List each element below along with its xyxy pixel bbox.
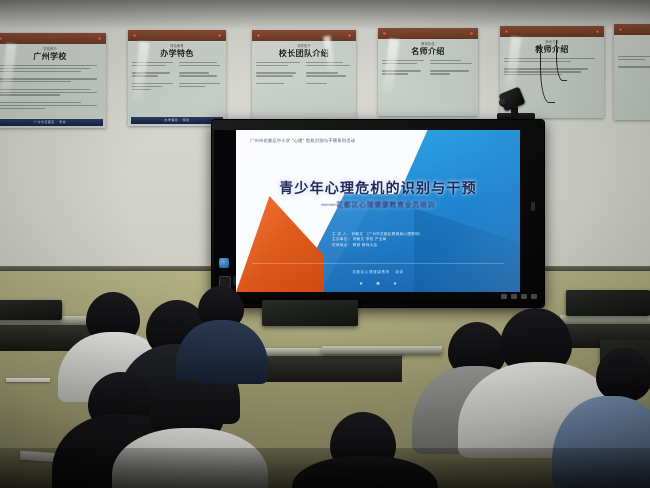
settings-icon[interactable]: ● xyxy=(392,281,398,287)
presenter-line-3: 时间地点： 教育 教师大会 xyxy=(332,243,423,248)
monitor-center xyxy=(262,300,358,326)
ceiling-cable xyxy=(556,40,567,81)
interactive-display[interactable]: SMART BOARD 广州市花都区中小学 "心理" 危机识别与干预系列活动 青… xyxy=(212,120,544,307)
board-header-bar xyxy=(614,24,650,35)
pin-icon xyxy=(348,34,351,37)
bulletin-board-guangzhou-school: 学校简介 广州学校 广州市花都区 · 学校 xyxy=(0,33,106,128)
board-header-bar xyxy=(378,28,478,39)
presentation-slide[interactable]: 广州市花都区中小学 "心理" 危机识别与干预系列活动 青少年心理危机的识别与干预… xyxy=(236,130,520,292)
slide-shape-orange xyxy=(236,196,324,292)
board-title: 校长团队介绍 xyxy=(252,48,356,59)
board-text-body xyxy=(0,65,102,117)
board-title: 广州学校 xyxy=(0,51,106,62)
slide-progress-bar[interactable] xyxy=(252,263,504,264)
pin-icon xyxy=(257,34,260,37)
photo-scene: 学校简介 广州学校 广州市花都区 · 学校 特色教育 办学特色 xyxy=(0,0,650,488)
minimize-icon[interactable] xyxy=(531,294,537,299)
bulletin-board-principal-team: 领导班子 校长团队介绍 xyxy=(252,30,356,122)
pin-icon xyxy=(0,37,2,40)
desk-row-right xyxy=(560,315,650,324)
pin-icon xyxy=(596,30,599,33)
pin-icon xyxy=(133,34,136,37)
board-header-bar xyxy=(0,33,106,44)
board-footer-text: 广州市花都区 · 学校 xyxy=(0,119,103,126)
paper-sheet xyxy=(6,378,50,382)
battery-icon[interactable]: ■ xyxy=(375,281,381,287)
board-footer: 广州市花都区 · 学校 xyxy=(0,119,103,126)
board-text-body xyxy=(618,56,650,109)
os-left-taskbar[interactable] xyxy=(214,130,236,292)
pin-icon xyxy=(470,32,473,35)
wifi-icon[interactable]: ● xyxy=(358,281,364,287)
slide-toolbar[interactable]: ● ■ ● xyxy=(236,281,520,287)
pin-icon xyxy=(98,37,101,40)
pin-icon xyxy=(505,30,508,33)
monitor-brand: · xyxy=(646,311,647,315)
slide-title: 青少年心理危机的识别与干预 xyxy=(236,178,520,198)
slide-presenter-info: 主 讲 人： 何敏文 （广州市花都区教育局心理教研） 主办单位： 何敏文 学校 … xyxy=(332,232,423,248)
head xyxy=(596,348,650,402)
board-text-body xyxy=(256,62,352,111)
monitor-right: · xyxy=(566,290,650,316)
note-icon[interactable] xyxy=(501,294,507,299)
monitor-brand: · xyxy=(58,315,59,319)
board-header-bar xyxy=(500,26,604,37)
board-footer: 办学理念 · 特色 xyxy=(131,117,223,124)
slide-header-text: 广州市花都区中小学 "心理" 危机识别与干预系列活动 xyxy=(250,138,355,144)
app-icon[interactable] xyxy=(219,258,229,268)
board-footer-text: 办学理念 · 特色 xyxy=(131,117,223,124)
pin-icon xyxy=(218,34,221,37)
pin-icon xyxy=(619,28,622,31)
foreground-shadow xyxy=(0,448,650,488)
ceiling-cable xyxy=(540,44,555,103)
pin-icon xyxy=(383,32,386,35)
slide-footer-text: 花都区心理健康教育 · 培训 xyxy=(236,269,520,274)
pen-icon[interactable] xyxy=(511,294,517,299)
desk-row-center2 xyxy=(322,346,442,354)
monitor-left: · xyxy=(0,300,62,320)
board-header-bar xyxy=(128,30,226,41)
camera-lens-icon xyxy=(499,98,508,107)
slide-subtitle: ——花都区心理健康教育全员培训 xyxy=(236,200,520,210)
desk-panel-center xyxy=(262,356,402,382)
bulletin-board-partial-right xyxy=(614,24,650,120)
board-header-bar xyxy=(252,30,356,41)
bulletin-board-school-features: 特色教育 办学特色 办学理念 · 特色 xyxy=(128,30,226,126)
os-tray-icons[interactable] xyxy=(501,294,537,299)
eraser-icon[interactable] xyxy=(521,294,527,299)
display-button-right[interactable] xyxy=(531,202,535,211)
bulletin-board-famous-teachers: 教师队伍 名师介绍 xyxy=(378,28,478,116)
